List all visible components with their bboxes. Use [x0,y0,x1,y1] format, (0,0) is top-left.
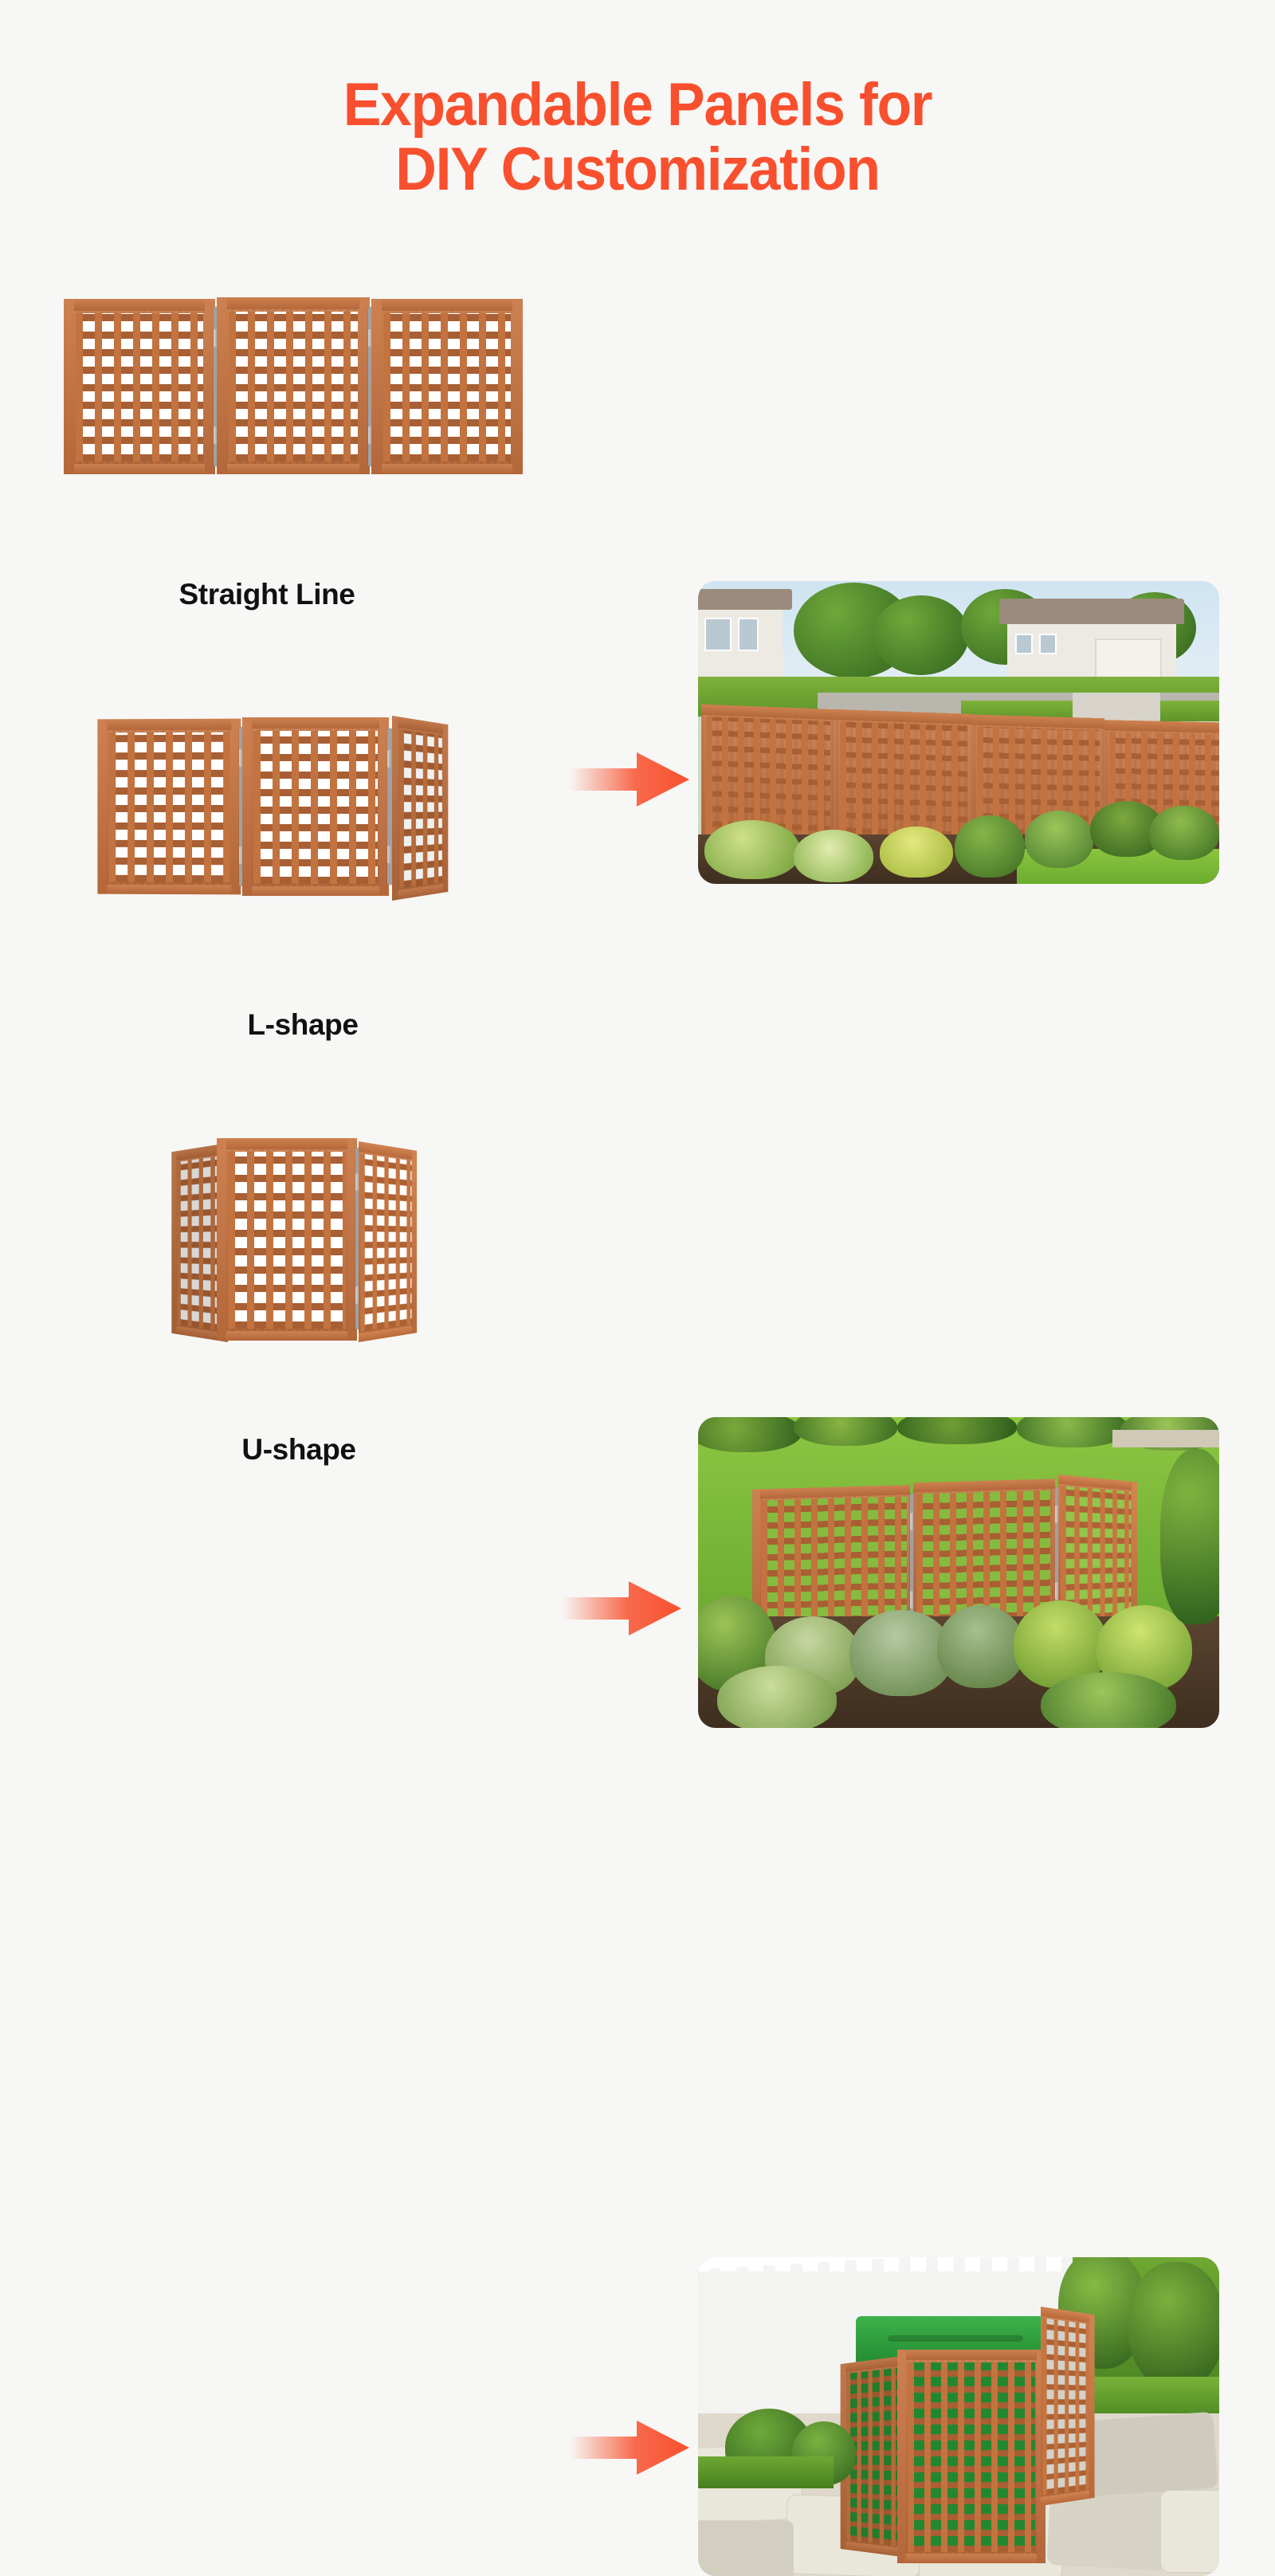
right-arrow-icon [570,2413,689,2482]
shape-label-straight-line: Straight Line [0,578,582,611]
lattice-field [108,732,229,883]
lattice-field [76,313,203,461]
illustration-column-u-shape: U-shape [0,1122,685,1521]
feature-row-straight-line: Straight Line [0,283,1275,658]
lattice-field [229,312,358,461]
lattice-panel-2 [242,717,389,896]
shape-label-l-shape: L-shape [0,1008,618,1042]
lattice-field [253,731,378,884]
lattice-panel-1 [97,719,241,895]
page-title: Expandable Panels for DIY Customization [0,73,1275,202]
lattice-panel-2 [217,297,370,474]
bin-store-panel-right [1041,2307,1095,2506]
illustration-column-straight-line: Straight Line [0,283,685,658]
lattice-field [383,313,511,461]
lattice-panel-3-folded [359,1141,417,1342]
feature-row-u-shape: U-shape [0,1122,1275,1521]
bin-store-panel-front [897,2350,1045,2563]
lattice-panel-1 [64,299,215,474]
title-line-1: Expandable Panels for [38,73,1237,138]
photo-u-shape-bin-store [698,2257,1219,2576]
lattice-panel-3 [371,299,523,474]
right-arrow-icon [562,1574,681,1643]
title-line-2: DIY Customization [38,138,1237,202]
product-illustration-straight-line: Straight Line [0,283,630,658]
illustration-column-l-shape: L-shape [0,701,685,1084]
product-illustration-u-shape: U-shape [0,1122,630,1521]
lattice-panel-3-folded [392,716,448,901]
shape-label-u-shape: U-shape [0,1433,614,1467]
feature-row-l-shape: L-shape [0,701,1275,1084]
lattice-field [228,1152,346,1329]
lattice-field [399,729,442,889]
product-illustration-l-shape: L-shape [0,701,630,1084]
lattice-panel-2 [217,1138,357,1341]
